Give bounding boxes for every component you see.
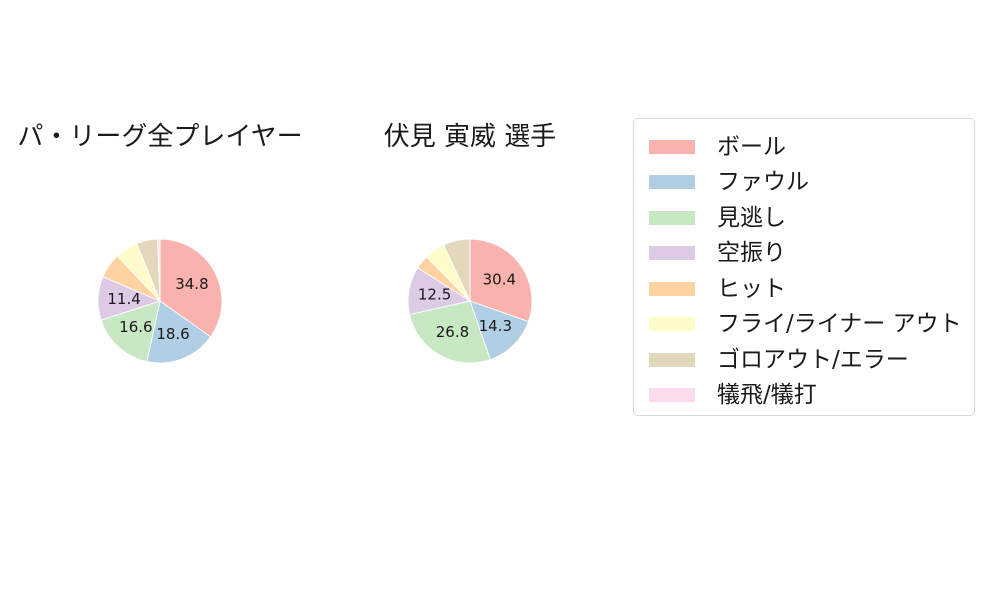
legend-item[interactable]: ファウル [634,165,974,201]
legend-color-swatch [649,211,695,225]
pie-slice-value-label: 26.8 [436,323,469,341]
legend-color-swatch [649,140,695,154]
legend-color-swatch [649,388,695,402]
pie-slice-value-label: 11.4 [107,290,140,308]
legend-item[interactable]: 犠飛/犠打 [634,378,974,414]
legend-item[interactable]: フライ/ライナー アウト [634,307,974,343]
legend-item-label: ヒット [717,276,786,302]
legend-color-swatch [649,317,695,331]
legend-item[interactable]: ヒット [634,271,974,307]
legend-color-swatch [649,353,695,367]
legend-item-label: ゴロアウト/エラー [717,347,909,373]
legend-item[interactable]: ゴロアウト/エラー [634,342,974,378]
legend-color-swatch [649,246,695,260]
legend-list: ボールファウル見逃し空振りヒットフライ/ライナー アウトゴロアウト/エラー犠飛/… [634,129,974,413]
pie-title-player: 伏見 寅威 選手 [320,122,620,152]
pie-panel-league: パ・リーグ全プレイヤー 34.818.616.611.4 [0,0,320,600]
pie-slice-value-label: 16.6 [119,318,152,336]
legend-item-label: フライ/ライナー アウト [717,311,962,337]
legend-item-label: 見逃し [717,205,786,231]
pie-slice-value-label: 18.6 [156,325,189,343]
legend-item[interactable]: 空振り [634,236,974,272]
legend-item-label: ファウル [717,169,809,195]
legend-item-label: 犠飛/犠打 [717,382,817,408]
legend: ボールファウル見逃し空振りヒットフライ/ライナー アウトゴロアウト/エラー犠飛/… [633,118,975,416]
pie-panel-player: 伏見 寅威 選手 30.414.326.812.5 [320,0,620,600]
legend-color-swatch [649,175,695,189]
pie-slice-value-label: 34.8 [175,275,208,293]
legend-item[interactable]: ボール [634,129,974,165]
legend-item-label: 空振り [717,240,786,266]
pie-slice-value-label: 12.5 [418,285,451,303]
figure-canvas: パ・リーグ全プレイヤー 34.818.616.611.4 伏見 寅威 選手 30… [0,0,1000,600]
legend-item-label: ボール [717,134,786,160]
pie-chart-player: 30.414.326.812.5 [407,238,533,364]
pie-slice-value-label: 14.3 [479,317,512,335]
pie-title-league: パ・リーグ全プレイヤー [0,122,320,152]
legend-color-swatch [649,282,695,296]
pie-svg-league: 34.818.616.611.4 [97,238,223,364]
legend-item[interactable]: 見逃し [634,200,974,236]
pie-slice-value-label: 30.4 [483,271,516,289]
pie-chart-league: 34.818.616.611.4 [97,238,223,364]
pie-svg-player: 30.414.326.812.5 [407,238,533,364]
